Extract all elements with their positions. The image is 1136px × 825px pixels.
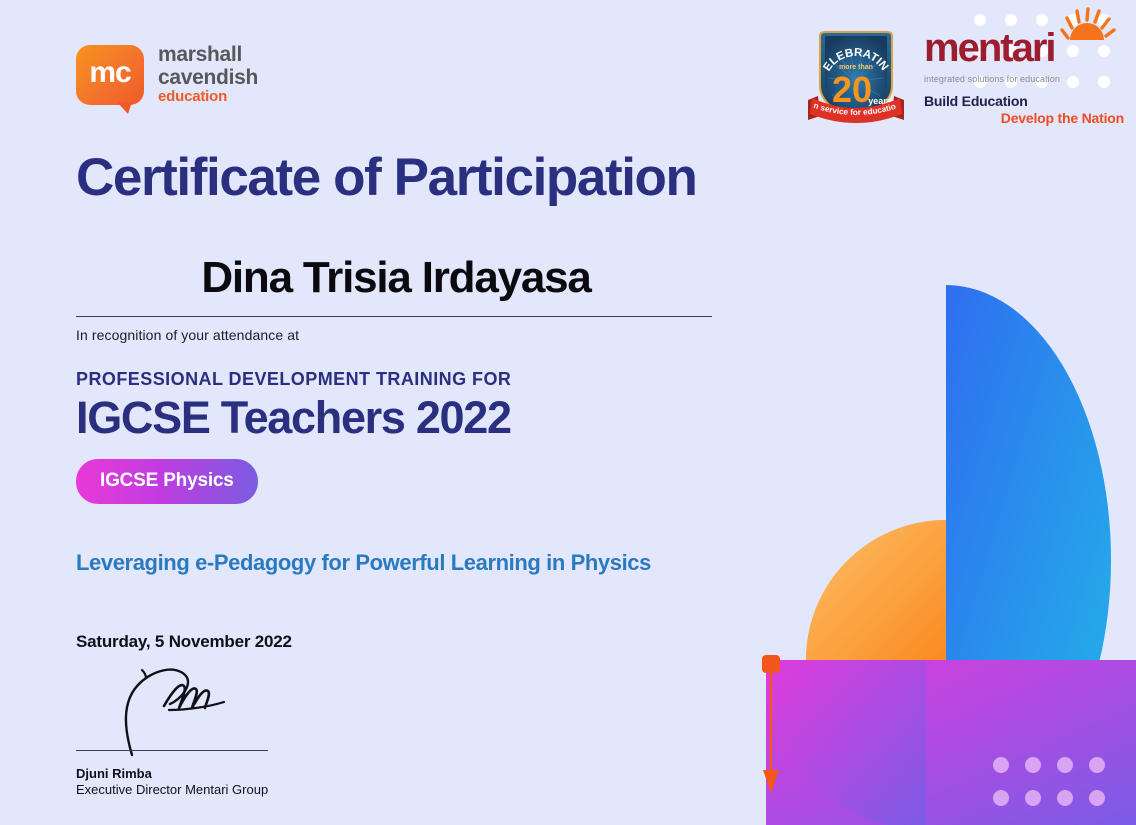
- signer-role: Executive Director Mentari Group: [76, 782, 736, 797]
- recipient-name: Dina Trisia Irdayasa: [76, 254, 736, 302]
- mce-mark-text: mc: [76, 45, 144, 105]
- page-title: Certificate of Participation: [76, 150, 736, 206]
- signer-name: Djuni Rimba: [76, 766, 736, 781]
- mentari-tagline: integrated solutions for education: [924, 74, 1124, 84]
- anniversary-badge-icon: CELEBRATING more than 20 years in servic…: [808, 26, 904, 134]
- certificate-body: Certificate of Participation Dina Trisia…: [76, 150, 736, 797]
- marshall-cavendish-logo: mc marshall cavendish education: [76, 44, 258, 106]
- mentari-develop-line: Develop the Nation: [924, 110, 1124, 126]
- purple-half-circle-left-curve: [766, 660, 926, 825]
- signature-block: [76, 658, 276, 758]
- purple-half-circle: [766, 660, 1136, 825]
- recognition-text: In recognition of your attendance at: [76, 327, 736, 343]
- mce-line-1: marshall: [158, 44, 258, 67]
- subject-badge: IGCSE Physics: [76, 459, 258, 504]
- event-date: Saturday, 5 November 2022: [76, 632, 736, 652]
- program-title: IGCSE Teachers 2022: [76, 394, 736, 441]
- mce-wordmark: marshall cavendish education: [158, 44, 258, 106]
- session-title: Leveraging e-Pedagogy for Powerful Learn…: [76, 550, 736, 576]
- svg-text:20: 20: [832, 69, 872, 110]
- signature-divider: [76, 750, 268, 751]
- purple-dot-grid: [993, 757, 1105, 806]
- signature-icon: [76, 658, 276, 758]
- program-eyebrow: PROFESSIONAL DEVELOPMENT TRAINING FOR: [76, 369, 736, 390]
- orange-left-half: [806, 520, 946, 660]
- sun-icon: [1058, 6, 1116, 40]
- mce-line-3: education: [158, 89, 258, 105]
- mentari-build-line: Build Education: [924, 93, 1124, 109]
- orange-quarter-shape: [946, 520, 1086, 660]
- orange-left-half-2: [806, 520, 946, 660]
- orange-down-arrow: [762, 655, 780, 793]
- certificate-header: mc marshall cavendish education: [0, 0, 1136, 140]
- certificate-canvas: mc marshall cavendish education: [0, 0, 1136, 825]
- mce-line-2: cavendish: [158, 67, 258, 90]
- mce-bubble-icon: mc: [76, 45, 144, 105]
- mentari-logo: mentari integrated solutions for educati…: [924, 28, 1124, 126]
- blue-quarter-shape: [946, 285, 1111, 825]
- recipient-divider: [76, 316, 712, 317]
